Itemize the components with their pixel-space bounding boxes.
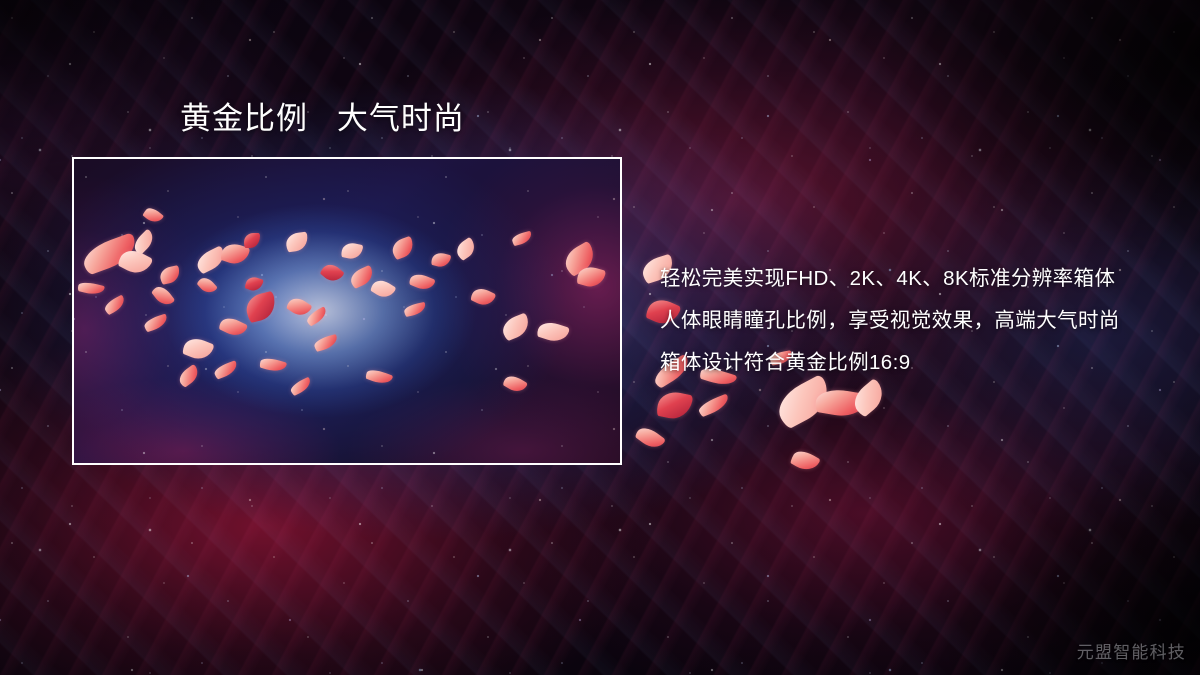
body-line-1: 轻松完美实现FHD、2K、4K、8K标准分辨率箱体 [660,258,1160,300]
page-title: 黄金比例 大气时尚 [180,101,465,137]
body-text-block: 轻松完美实现FHD、2K、4K、8K标准分辨率箱体 人体眼睛瞳孔比例，享受视觉效… [660,258,1160,384]
body-line-2: 人体眼睛瞳孔比例，享受视觉效果，高端大气时尚 [660,300,1160,342]
body-line-3: 箱体设计符合黄金比例16:9 [660,342,1160,384]
watermark: 元盟智能科技 [1077,638,1186,663]
framed-nebula-photo [72,157,622,465]
frame-inner-image [74,159,620,463]
presentation-slide: 黄金比例 大气时尚 轻松完美实现FHD、2K、4K、8K标准分辨率箱体 人体眼睛… [0,0,1200,675]
